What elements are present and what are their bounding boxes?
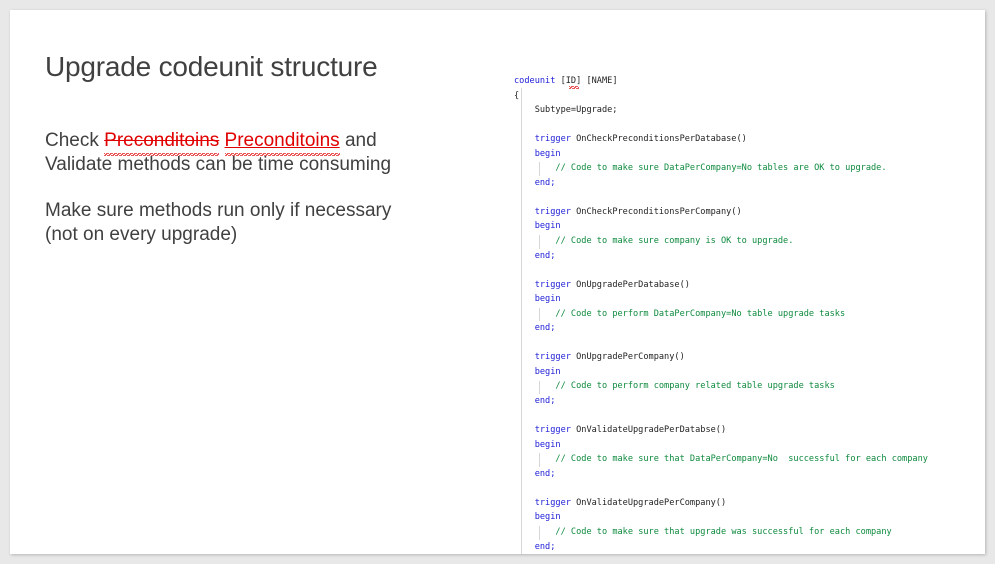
code-line: trigger OnValidateUpgradePerDatabse() — [514, 423, 985, 438]
code-line: trigger OnUpgradePerCompany() — [514, 350, 985, 365]
indent-guide-inner — [539, 162, 540, 176]
code-line: begin — [514, 219, 985, 234]
code-token-kw: begin — [535, 294, 561, 304]
code-line: trigger OnCheckPreconditionsPerCompany() — [514, 205, 985, 220]
code-indent — [514, 134, 535, 144]
code-token-id: OnValidateUpgradePerDatabse() — [571, 425, 726, 435]
code-line: // Code to make sure that DataPerCompany… — [514, 452, 985, 467]
code-token-kw: end; — [535, 251, 556, 261]
revision-inserted-text: Preconditoins — [225, 130, 340, 151]
code-indent — [514, 323, 535, 333]
code-token-kw: end; — [535, 396, 556, 406]
paragraph-2-line-1: Make sure methods run only if necessary — [45, 200, 391, 221]
code-token-kw: trigger — [535, 207, 571, 217]
revision-deleted-word: Preconditoins — [104, 129, 219, 153]
code-indent — [514, 163, 555, 173]
code-indent — [514, 381, 555, 391]
code-line: begin — [514, 438, 985, 453]
code-indent — [514, 280, 535, 290]
code-indent — [514, 454, 555, 464]
code-indent — [514, 396, 535, 406]
code-line: end; — [514, 176, 985, 191]
code-token-id: OnCheckPreconditionsPerDatabase() — [571, 134, 747, 144]
code-indent — [514, 498, 535, 508]
code-indent — [514, 221, 535, 231]
code-token-kw: begin — [535, 512, 561, 522]
code-indent — [514, 469, 535, 479]
code-token-cmt: // Code to perform DataPerCompany=No tab… — [555, 309, 845, 319]
page-title: Upgrade codeunit structure — [45, 50, 475, 84]
code-indent — [514, 105, 535, 115]
code-token-kw: trigger — [535, 352, 571, 362]
code-indent — [514, 440, 535, 450]
code-token-kw: end; — [535, 323, 556, 333]
code-line: begin — [514, 365, 985, 380]
code-token-kw: begin — [535, 149, 561, 159]
code-indent — [514, 207, 535, 217]
code-line: trigger OnValidateUpgradePerCompany() — [514, 496, 985, 511]
paragraph-1-lead: Check — [45, 130, 104, 151]
code-indent — [514, 149, 535, 159]
code-token-id: [ID] [NAME] — [555, 76, 617, 86]
code-line: // Code to make sure company is OK to up… — [514, 234, 985, 249]
revision-deleted-text: Preconditoins — [104, 130, 219, 151]
code-line — [514, 481, 985, 496]
code-token-kw: trigger — [535, 498, 571, 508]
code-line: begin — [514, 292, 985, 307]
code-token-cmt: // Code to perform company related table… — [555, 381, 834, 391]
code-token-cmt: // Code to make sure DataPerCompany=No t… — [555, 163, 886, 173]
code-token-kw: trigger — [535, 134, 571, 144]
code-line: // Code to perform DataPerCompany=No tab… — [514, 307, 985, 322]
indent-guide-inner — [539, 235, 540, 249]
code-token-id: OnCheckPreconditionsPerCompany() — [571, 207, 742, 217]
code-token-kw: begin — [535, 367, 561, 377]
code-token-cmt: // Code to make sure that upgrade was su… — [555, 527, 891, 537]
slide-text-column: Upgrade codeunit structure Check Precond… — [45, 50, 475, 247]
indent-guide-inner — [539, 308, 540, 322]
code-indent — [514, 542, 535, 552]
code-token-id: OnUpgradePerDatabase() — [571, 280, 690, 290]
revision-inserted-word: Preconditoins — [225, 129, 340, 153]
code-line: trigger OnUpgradePerDatabase() — [514, 278, 985, 293]
indent-guide-inner — [539, 453, 540, 467]
code-indent — [514, 236, 555, 246]
code-token-id: OnValidateUpgradePerCompany() — [571, 498, 726, 508]
code-line: trigger OnCheckPreconditionsPerDatabase(… — [514, 132, 985, 147]
code-line: { — [514, 89, 985, 104]
code-line: end; — [514, 467, 985, 482]
code-indent — [514, 367, 535, 377]
code-block: codeunit [ID] [NAME]{ Subtype=Upgrade; t… — [508, 66, 985, 554]
code-token-kw: trigger — [535, 425, 571, 435]
code-indent — [514, 251, 535, 261]
code-indent — [514, 527, 555, 537]
code-line — [514, 263, 985, 278]
code-indent — [514, 294, 535, 304]
code-line — [514, 336, 985, 351]
code-token-id: OnUpgradePerCompany() — [571, 352, 685, 362]
code-token-kw: end; — [535, 469, 556, 479]
code-snippet-panel: codeunit [ID] [NAME]{ Subtype=Upgrade; t… — [508, 66, 985, 554]
code-line: // Code to make sure DataPerCompany=No t… — [514, 161, 985, 176]
indent-guide-inner — [539, 526, 540, 540]
presentation-canvas: Upgrade codeunit structure Check Precond… — [0, 0, 995, 564]
code-token-kw: codeunit — [514, 76, 555, 86]
code-token-cmt: // Code to make sure company is OK to up… — [555, 236, 793, 246]
code-token-kw: end; — [535, 178, 556, 188]
paragraph-1-tail: and — [340, 130, 377, 151]
code-indent — [514, 512, 535, 522]
code-token-id: { — [514, 91, 519, 101]
code-line — [514, 409, 985, 424]
code-line: // Code to make sure that upgrade was su… — [514, 525, 985, 540]
paragraph-2-line-2: (not on every upgrade) — [45, 224, 237, 245]
code-indent — [514, 178, 535, 188]
code-line: end; — [514, 394, 985, 409]
code-token-kw: begin — [535, 221, 561, 231]
slide: Upgrade codeunit structure Check Precond… — [10, 10, 985, 554]
code-indent — [514, 309, 555, 319]
code-token-kw: end; — [535, 542, 556, 552]
code-line: // Code to perform company related table… — [514, 379, 985, 394]
code-line: Subtype=Upgrade; — [514, 103, 985, 118]
code-line — [514, 190, 985, 205]
slide-body-text: Check Preconditoins Preconditoins andVal… — [45, 129, 475, 247]
code-line: end; — [514, 321, 985, 336]
code-token-id: Subtype=Upgrade; — [535, 105, 618, 115]
indent-guide-inner — [539, 381, 540, 395]
code-line: begin — [514, 510, 985, 525]
paragraph-1-line-2: Validate methods can be time consuming — [45, 154, 391, 175]
code-indent — [514, 352, 535, 362]
code-line — [514, 118, 985, 133]
body-paragraph-2: Make sure methods run only if necessary(… — [45, 199, 475, 247]
code-token-cmt: // Code to make sure that DataPerCompany… — [555, 454, 928, 464]
code-indent — [514, 425, 535, 435]
code-token-kw: trigger — [535, 280, 571, 290]
code-line: begin — [514, 147, 985, 162]
body-paragraph-1: Check Preconditoins Preconditoins andVal… — [45, 129, 475, 177]
code-line: end; — [514, 540, 985, 555]
code-token-kw: begin — [535, 440, 561, 450]
code-line: codeunit [ID] [NAME] — [514, 74, 985, 89]
code-line: end; — [514, 249, 985, 264]
